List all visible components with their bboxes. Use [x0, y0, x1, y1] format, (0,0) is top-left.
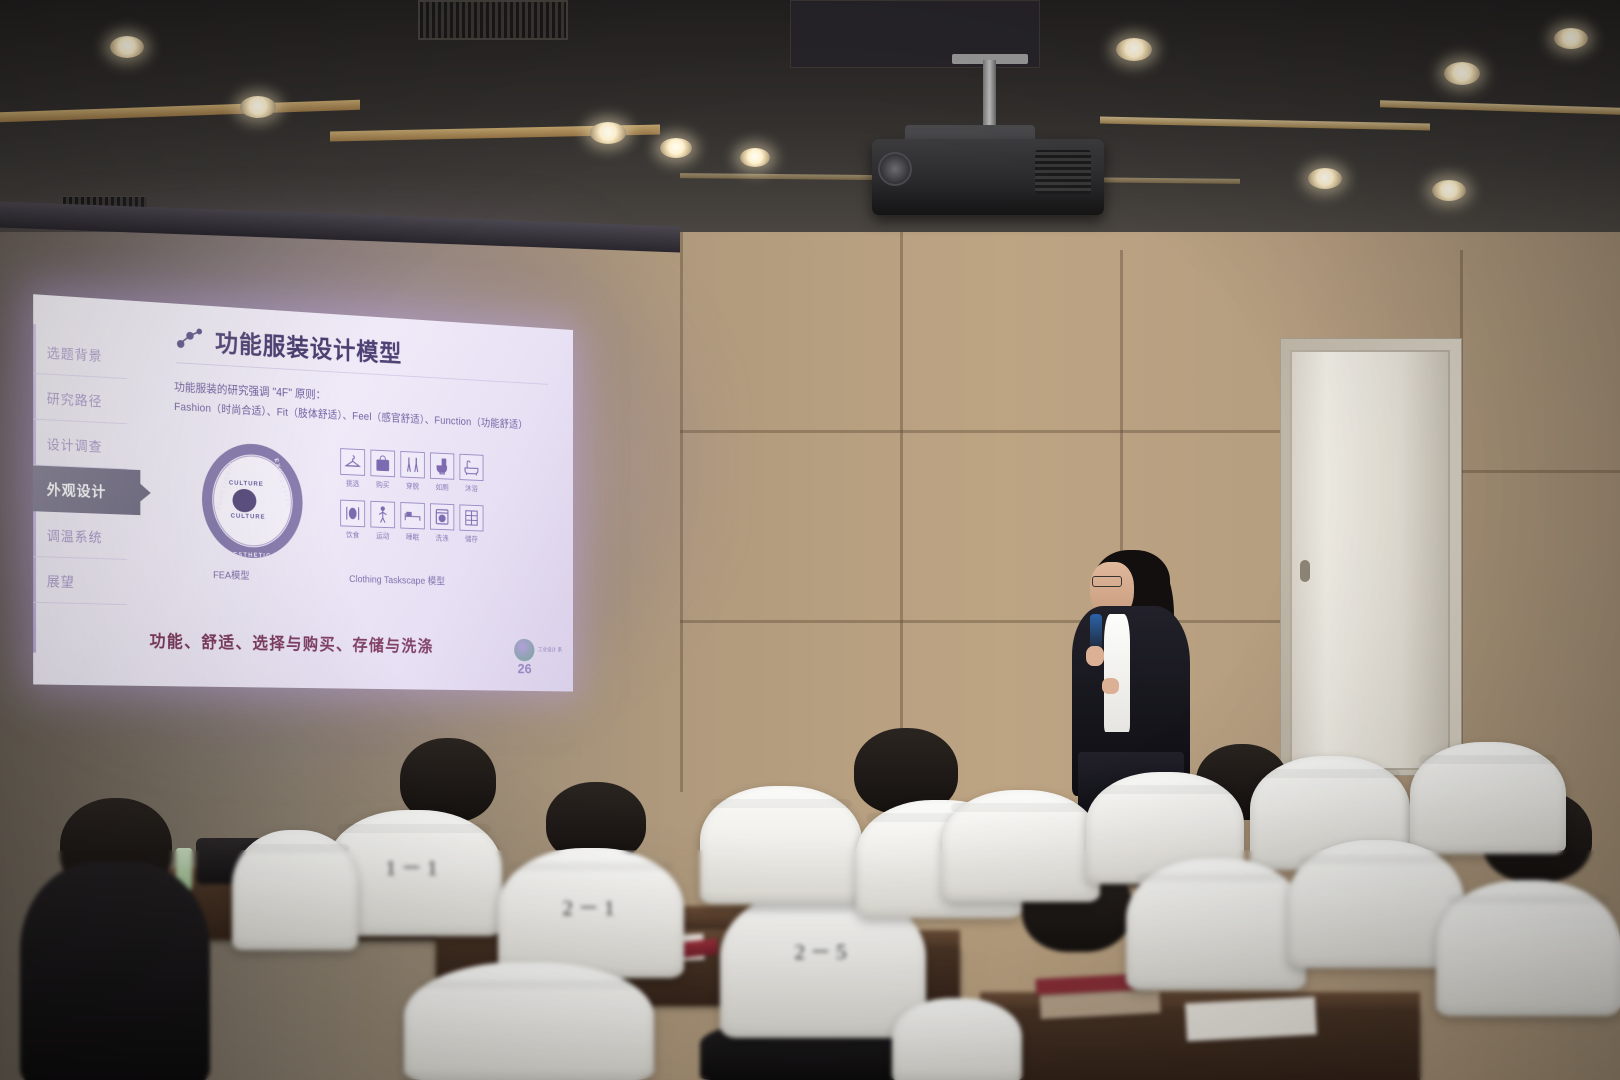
chair-seam [240, 844, 351, 853]
taskscape-item[interactable]: 购买 [370, 450, 395, 491]
taskscape-item[interactable]: 洗涤 [430, 503, 454, 543]
taskscape-label: 沐浴 [459, 483, 483, 494]
chair-seam [1299, 855, 1454, 864]
ceiling-downlight [740, 148, 770, 167]
slide-body-text: 功能服装的研究强调 "4F" 原则： Fashion（时尚合适）、Fit（肢体舒… [174, 378, 554, 437]
sidebar-item-label: 展望 [47, 570, 75, 591]
taskscape-row-2: 饮食 运动 [340, 500, 483, 545]
bed-icon [400, 502, 424, 529]
chair-cover [232, 830, 358, 950]
slide-conclusion: 功能、舒适、选择与购买、存储与洗涤 [76, 626, 501, 658]
fea-label-culture-bottom: CULTURE [231, 513, 266, 521]
paper-sheet [1185, 997, 1317, 1042]
chair-seam [1447, 895, 1609, 904]
chair-seam [1137, 873, 1295, 882]
taskscape-item[interactable]: 挑选 [340, 448, 365, 489]
chair-seam [509, 862, 673, 871]
sidebar-item-label: 研究路径 [47, 387, 103, 410]
sidebar-item-label: 调温系统 [47, 524, 103, 546]
chair-seam [951, 803, 1090, 812]
chair-seam [419, 980, 639, 989]
ceiling-downlight [240, 96, 276, 118]
toilet-icon [430, 452, 454, 479]
chair-seam [337, 824, 492, 833]
ceiling-downlight [660, 138, 692, 158]
chair-cover [404, 962, 654, 1080]
taskscape-item[interactable]: 睡眠 [400, 502, 424, 543]
wall-seam [680, 430, 1280, 433]
taskscape-label: 洗涤 [430, 532, 454, 543]
taskscape-caption: Clothing Taskscape 模型 [349, 570, 445, 587]
sidebar-item-outlook[interactable]: 展望 [33, 557, 127, 605]
ceiling-air-grille [418, 0, 568, 40]
hanger-icon [340, 448, 365, 476]
taskscape-label: 储存 [459, 533, 483, 544]
washing-machine-icon [430, 503, 454, 530]
taskscape-item[interactable]: 储存 [459, 504, 483, 544]
ceiling-downlight [1308, 168, 1342, 189]
taskscape-label: 饮食 [340, 529, 365, 540]
door-handle-icon[interactable] [1300, 560, 1310, 582]
projection-screen: 选题背景 研究路径 设计调查 外观设计 调温系统 展望 [0, 232, 596, 754]
taskscape-label: 睡眠 [400, 531, 424, 542]
sidebar-item-research-path[interactable]: 研究路径 [33, 374, 127, 424]
ceiling-downlight [1554, 28, 1588, 49]
wall-seam [680, 620, 1280, 623]
sidebar-item-label: 设计调查 [47, 433, 103, 455]
wall-seam [900, 232, 903, 772]
ceiling-downlight [1116, 38, 1152, 61]
slide-logo-text: 工业设计 系 [538, 646, 562, 654]
fea-caption: FEA模型 [213, 566, 249, 582]
shopping-bag-icon [370, 450, 395, 478]
fea-label-culture-top: CULTURE [229, 480, 264, 488]
sidebar-item-label: 选题背景 [47, 341, 103, 364]
presenter-hand [1102, 678, 1119, 694]
ceiling-downlight [110, 36, 144, 58]
sidebar-item-design-survey[interactable]: 设计调查 [33, 420, 127, 470]
legs-dressing-icon [400, 451, 424, 479]
presenter-shirt [1104, 614, 1130, 732]
chair-cover [1436, 880, 1620, 1016]
taskscape-item[interactable]: 如厕 [430, 452, 454, 493]
projector-lens-icon [878, 152, 912, 186]
chair-seam [1260, 769, 1401, 778]
ceiling-downlight [590, 122, 626, 144]
ceiling-downlight [1444, 62, 1480, 85]
sidebar-item-appearance-design[interactable]: 外观设计 [33, 465, 140, 515]
fea-label-aesthetic: AESTHETIC [228, 551, 272, 559]
taskscape-item[interactable]: 穿脱 [400, 451, 424, 492]
chair-cover [1126, 858, 1306, 990]
chair-cover [942, 790, 1100, 902]
sidebar-item-label: 外观设计 [47, 478, 107, 501]
taskscape-item[interactable]: 饮食 [340, 500, 365, 541]
chair-seam [1419, 755, 1556, 764]
chair-cover [700, 786, 862, 904]
presenter-hand [1086, 646, 1104, 666]
presenter-glasses-icon [1092, 576, 1122, 587]
sidebar-item-background[interactable]: 选题背景 [33, 328, 127, 379]
taskscape-label: 挑选 [340, 478, 365, 490]
room-door[interactable] [1290, 350, 1450, 770]
chair-cover: 2－1 [498, 848, 684, 978]
chair-seam [710, 799, 853, 808]
node-network-icon [176, 326, 204, 353]
taskscape-label: 如厕 [430, 482, 454, 493]
chair-cover [1410, 742, 1566, 854]
taskscape-label: 购买 [370, 479, 395, 490]
wall-seam [1462, 470, 1620, 473]
plate-cutlery-icon [340, 500, 365, 528]
slide-page-number: 26 [518, 661, 532, 677]
person-exercise-icon [370, 501, 395, 528]
university-logo-icon [514, 639, 534, 662]
slide-logo: 工业设计 系 [514, 639, 562, 662]
storage-cabinet-icon [459, 504, 483, 531]
seat-number: 2－1 [498, 892, 684, 922]
bathtub-icon [459, 454, 483, 481]
page-title: 功能服装设计模型 [215, 324, 402, 370]
chair-cover [892, 998, 1022, 1080]
sidebar-item-temperature-system[interactable]: 调温系统 [33, 511, 127, 560]
chair-seam [1095, 785, 1234, 794]
taskscape-item[interactable]: 运动 [370, 501, 395, 542]
ceiling-downlight [1432, 180, 1466, 201]
taskscape-label: 穿脱 [400, 480, 424, 491]
fea-model-diagram: FUNCTIONAL EXPRESSIVE AESTHETIC CULTURE … [202, 442, 303, 560]
audience-person-torso [20, 862, 210, 1080]
taskscape-item[interactable]: 沐浴 [459, 454, 483, 494]
presentation-slide: 选题背景 研究路径 设计调查 外观设计 调温系统 展望 [33, 294, 573, 691]
lecture-hall-photo: 选题背景 研究路径 设计调查 外观设计 调温系统 展望 [0, 0, 1620, 1080]
slide-title-row: 功能服装设计模型 [176, 321, 402, 369]
projector-vent [1035, 150, 1091, 194]
taskscape-row-1: 挑选 购买 [340, 448, 483, 494]
taskscape-label: 运动 [370, 530, 395, 541]
slide-sidebar-nav: 选题背景 研究路径 设计调查 外观设计 调温系统 展望 [33, 328, 127, 605]
seat-number: 2－5 [720, 936, 926, 966]
